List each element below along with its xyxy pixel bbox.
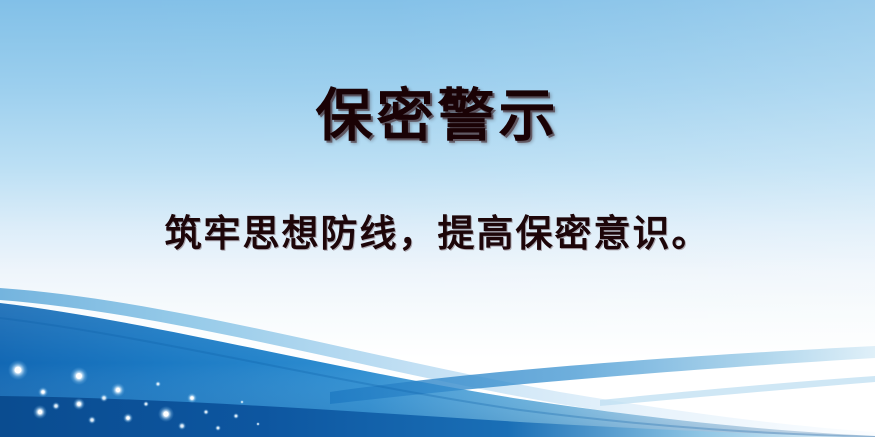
banner-title: 保密警示	[0, 84, 875, 148]
banner-subtitle: 筑牢思想防线，提高保密意识。	[0, 210, 875, 258]
secrecy-warning-banner: 保密警示 筑牢思想防线，提高保密意识。	[0, 0, 875, 437]
banner-text-layer: 保密警示 筑牢思想防线，提高保密意识。	[0, 0, 875, 437]
